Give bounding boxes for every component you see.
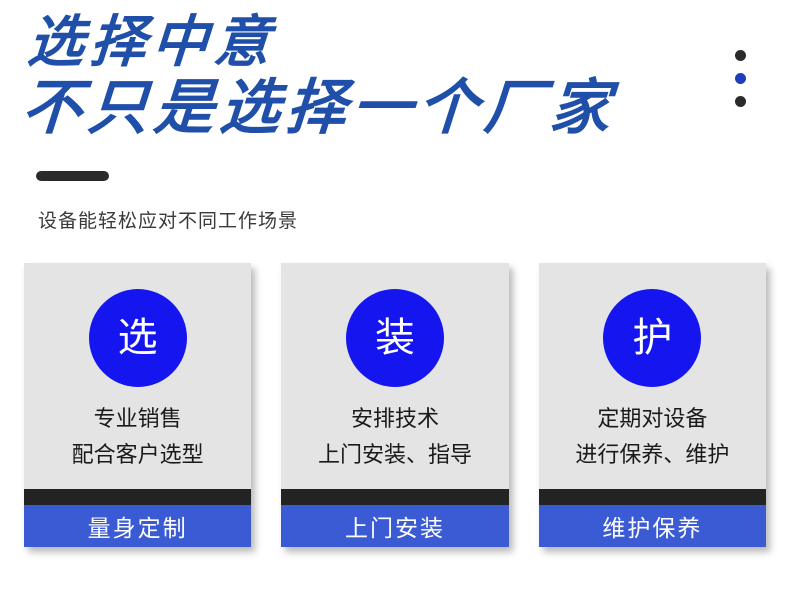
card-text-line-2: 上门安装、指导: [318, 437, 472, 473]
service-card[interactable]: 装 安排技术 上门安装、指导 上门安装: [281, 263, 508, 547]
service-card-list: 选 专业销售 配合客户选型 量身定制 装 安排技术 上门安装、指导 上门安装 护…: [24, 263, 766, 547]
dot-middle-icon: [735, 73, 746, 84]
card-body: 定期对设备 进行保养、维护: [575, 405, 729, 473]
dots-decoration: [735, 50, 746, 107]
divider-bar: [36, 171, 109, 181]
card-text-line-2: 配合客户选型: [72, 437, 204, 473]
card-badge-circle: 护: [603, 289, 701, 387]
card-footer-label: 维护保养: [539, 505, 766, 547]
subtitle-text: 设备能轻松应对不同工作场景: [38, 206, 298, 233]
headline-block: 选择中意 不只是选择一个厂家: [22, 14, 722, 138]
poster-canvas: 选择中意 不只是选择一个厂家 设备能轻松应对不同工作场景 选 专业销售 配合客户…: [0, 0, 790, 606]
headline-line-2: 不只是选择一个厂家: [20, 78, 724, 138]
card-body: 安排技术 上门安装、指导: [318, 405, 472, 473]
card-body: 专业销售 配合客户选型: [72, 405, 204, 473]
card-divider-strip: [539, 489, 766, 505]
card-divider-strip: [281, 489, 508, 505]
card-text-line-1: 专业销售: [72, 405, 204, 437]
card-badge-circle: 选: [89, 289, 187, 387]
dot-bottom-icon: [735, 96, 746, 107]
headline-line-1: 选择中意: [26, 14, 724, 70]
card-footer-label: 量身定制: [24, 505, 251, 547]
card-badge-circle: 装: [346, 289, 444, 387]
card-text-line-1: 定期对设备: [575, 405, 729, 437]
card-divider-strip: [24, 489, 251, 505]
service-card[interactable]: 选 专业销售 配合客户选型 量身定制: [24, 263, 251, 547]
dot-top-icon: [735, 50, 746, 61]
card-text-line-2: 进行保养、维护: [575, 437, 729, 473]
card-text-line-1: 安排技术: [318, 405, 472, 437]
card-footer-label: 上门安装: [281, 505, 508, 547]
service-card[interactable]: 护 定期对设备 进行保养、维护 维护保养: [539, 263, 766, 547]
